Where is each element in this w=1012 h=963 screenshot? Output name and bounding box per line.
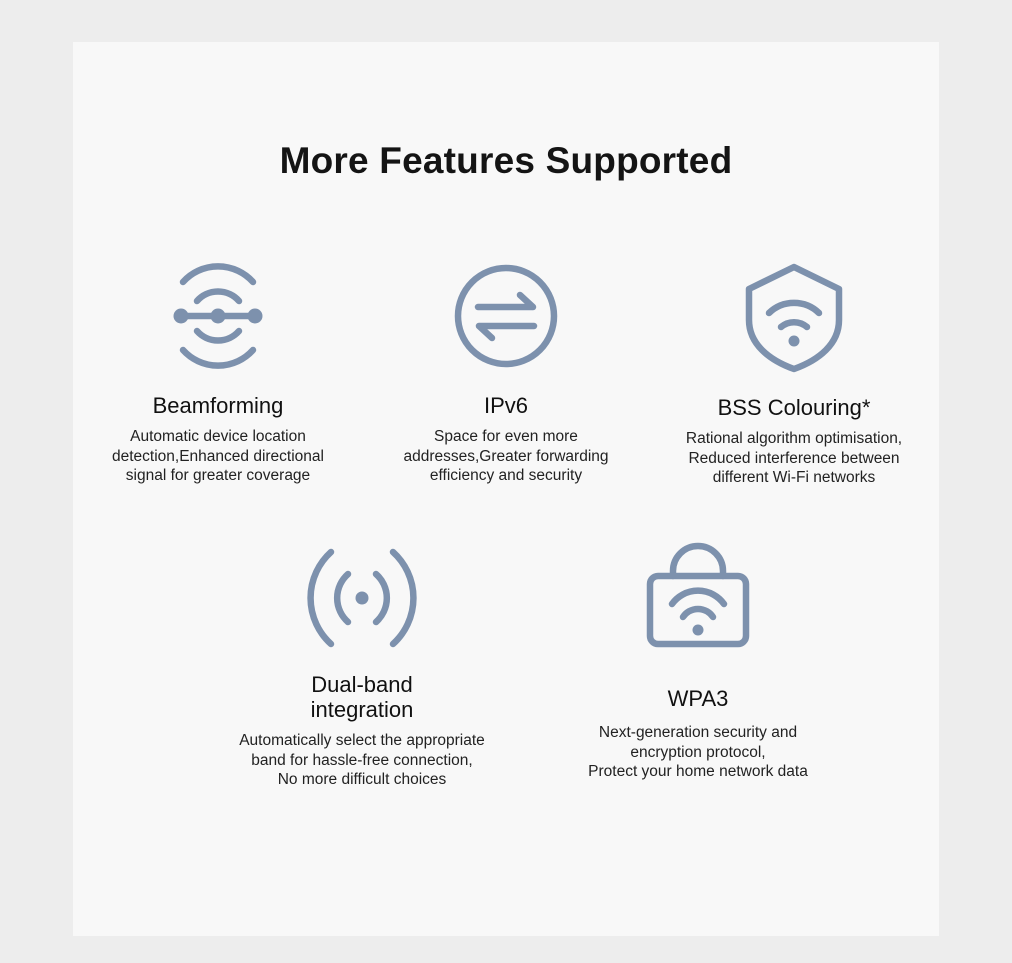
feature-item-bss-colouring: BSS Colouring* Rational algorithm optimi… — [650, 257, 938, 488]
beamforming-signal-icon — [159, 257, 277, 375]
feature-description: Automatically select the appropriate ban… — [239, 731, 485, 790]
feature-item-beamforming: Beamforming Automatic device location de… — [74, 257, 362, 486]
feature-card: More Features Supported — [73, 42, 939, 936]
feature-title: Dual-band integration — [311, 672, 414, 722]
bidirectional-arrows-circle-icon — [447, 257, 565, 375]
feature-item-dual-band-integration: Dual-band integration Automatically sele… — [202, 542, 522, 790]
feature-description: Automatic device location detection,Enha… — [112, 427, 324, 486]
feature-description: Space for even more addresses,Greater fo… — [403, 427, 608, 486]
feature-description: Rational algorithm optimisation, Reduced… — [686, 429, 902, 488]
page-title: More Features Supported — [73, 142, 939, 179]
feature-row-top: Beamforming Automatic device location de… — [73, 257, 939, 488]
feature-item-wpa3: WPA3 Next-generation security and encryp… — [538, 542, 858, 782]
feature-item-ipv6: IPv6 Space for even more addresses,Great… — [362, 257, 650, 486]
dual-band-broadcast-icon — [304, 542, 420, 654]
feature-title: BSS Colouring* — [718, 395, 871, 420]
shield-wifi-icon — [733, 257, 855, 377]
feature-row-bottom: Dual-band integration Automatically sele… — [73, 542, 939, 790]
feature-description: Next-generation security and encryption … — [588, 723, 808, 782]
padlock-wifi-icon — [640, 542, 756, 654]
feature-title: IPv6 — [484, 393, 528, 418]
feature-title: Beamforming — [153, 393, 284, 418]
feature-title: WPA3 — [668, 686, 729, 711]
